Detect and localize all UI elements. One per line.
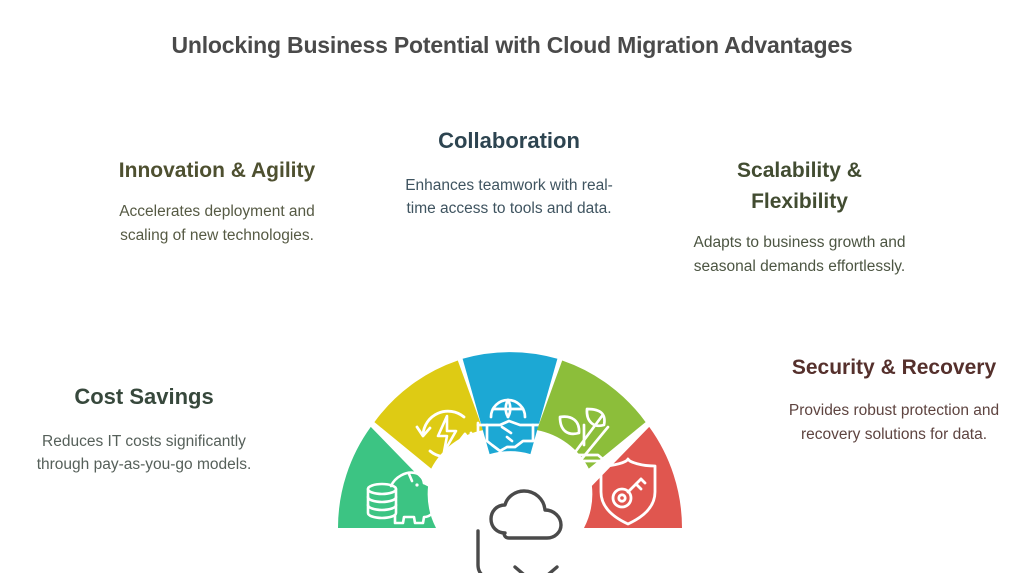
label-cost-savings: Cost Savings Reduces IT costs significan… <box>14 381 274 477</box>
body-scalability-flexibility: Adapts to business growth and seasonal d… <box>692 231 907 278</box>
body-collaboration: Enhances teamwork with real-time access … <box>398 174 620 221</box>
label-collaboration: Collaboration Enhances teamwork with rea… <box>398 125 620 221</box>
heading-innovation-agility: Innovation & Agility <box>97 155 337 186</box>
body-cost-savings: Reduces IT costs significantly through p… <box>14 430 274 477</box>
label-scalability-flexibility: Scalability & Flexibility Adapts to busi… <box>692 155 907 278</box>
page-title: Unlocking Business Potential with Cloud … <box>0 32 1024 59</box>
heading-scalability-flexibility: Scalability & Flexibility <box>692 155 907 217</box>
label-security-recovery: Security & Recovery Provides robust prot… <box>778 352 1010 446</box>
body-innovation-agility: Accelerates deployment and scaling of ne… <box>97 200 337 247</box>
body-security-recovery: Provides robust protection and recovery … <box>778 399 1010 446</box>
heading-cost-savings: Cost Savings <box>14 381 274 414</box>
segment-collaboration[interactable] <box>463 352 558 454</box>
cloud-migration-icon <box>478 491 587 573</box>
radial-fan-wheel <box>265 283 755 573</box>
heading-security-recovery: Security & Recovery <box>778 352 1010 383</box>
heading-collaboration: Collaboration <box>398 125 620 158</box>
infographic-canvas: Unlocking Business Potential with Cloud … <box>0 0 1024 578</box>
label-innovation-agility: Innovation & Agility Accelerates deploym… <box>97 155 337 247</box>
